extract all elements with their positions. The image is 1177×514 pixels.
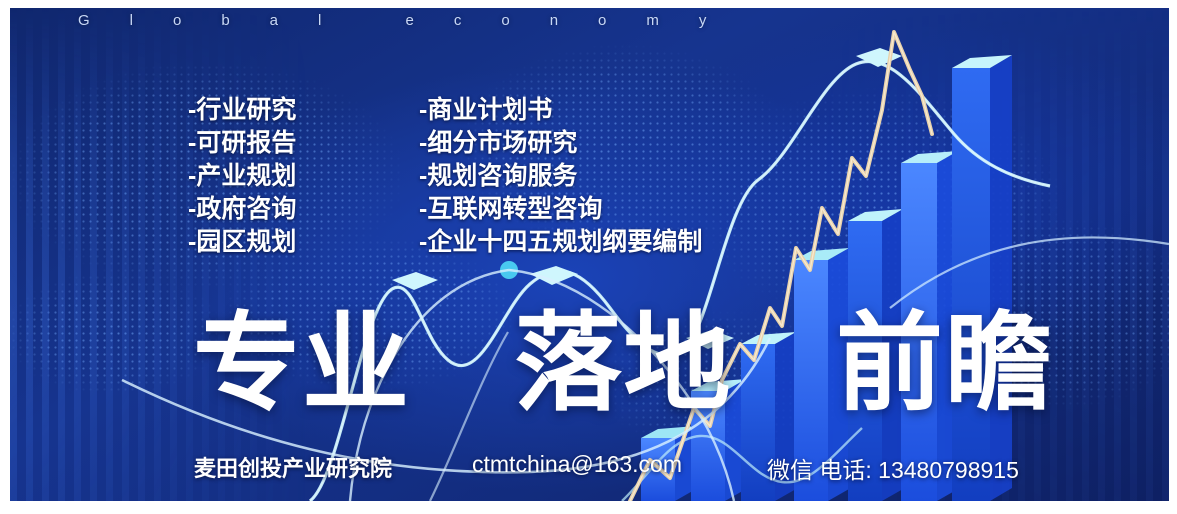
service-item: -商业计划书 xyxy=(419,94,702,127)
headline-word-1: 专业 xyxy=(193,303,411,423)
service-item: -产业规划 xyxy=(188,160,296,193)
bar-7 xyxy=(952,55,1012,501)
service-item: -互联网转型咨询 xyxy=(419,193,702,226)
headline-word-3: 前瞻 xyxy=(836,303,1054,423)
services-right-column: -商业计划书 -细分市场研究 -规划咨询服务 -互联网转型咨询 -企业十四五规划… xyxy=(419,94,702,259)
headline: 专业 落地 前瞻 xyxy=(193,310,1054,417)
services-left-column: -行业研究 -可研报告 -产业规划 -政府咨询 -园区规划 xyxy=(188,94,296,259)
contact-organization: 麦田创投产业研究院 xyxy=(194,451,392,483)
service-item: -细分市场研究 xyxy=(419,127,702,160)
contact-email[interactable]: ctmtchina@163.com xyxy=(472,451,682,478)
banner-canvas: Global economy -行业研究 -可研报告 -产业规划 -政府咨询 -… xyxy=(10,8,1169,501)
service-item: -可研报告 xyxy=(188,127,296,160)
top-global-economy-strip: Global economy xyxy=(78,12,746,29)
service-item: -园区规划 xyxy=(188,226,296,259)
service-item: -行业研究 xyxy=(188,94,296,127)
service-item: -规划咨询服务 xyxy=(419,160,702,193)
service-item: -政府咨询 xyxy=(188,193,296,226)
headline-word-2: 落地 xyxy=(514,303,732,423)
contact-phone: 微信 电话: 13480798915 xyxy=(767,451,1019,485)
service-item: -企业十四五规划纲要编制 xyxy=(419,226,702,259)
